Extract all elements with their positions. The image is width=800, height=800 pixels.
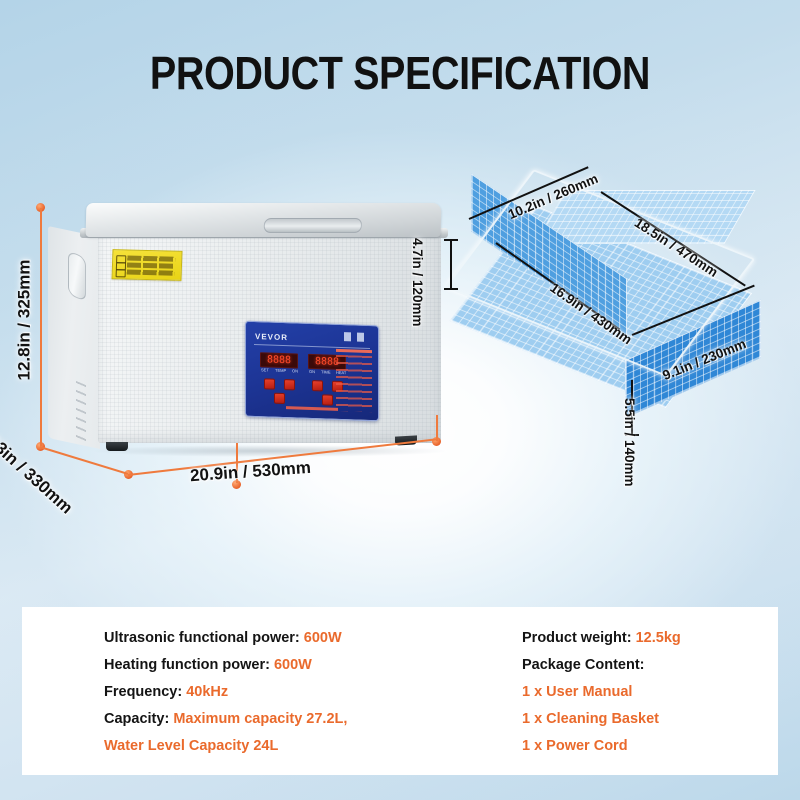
display-label-on-2: ON: [309, 369, 315, 374]
control-panel[interactable]: VEVOR 8888 8888 SET TEMP ON ON TIME HEAT: [245, 321, 379, 422]
panel-notice-heading: [336, 349, 372, 353]
basket-inner-height-label: 5.5in / 140mm: [622, 398, 637, 487]
wash-symbols-icon: [344, 332, 370, 342]
basket-outer-height-label: 4.7in / 120mm: [410, 238, 425, 327]
spec-row: 1 x User Manual: [522, 679, 681, 706]
brand-logo: VEVOR: [255, 332, 288, 342]
machine-side-handle-icon: [68, 250, 86, 302]
spec-value: Maximum capacity 27.2L,: [173, 711, 347, 727]
spec-label: Ultrasonic functional power:: [104, 630, 300, 646]
display-label-on: ON: [292, 368, 298, 373]
spec-label: Heating function power:: [104, 657, 270, 673]
spec-value: 12.5kg: [636, 630, 681, 646]
spec-row: Heating function power: 600W: [104, 652, 347, 679]
spec-row: Water Level Capacity 24L: [104, 733, 347, 760]
basket-dim-cap-bottom: [444, 288, 458, 290]
power-button[interactable]: [322, 394, 333, 405]
ultrasonic-cleaner-illustration: VEVOR 8888 8888 SET TEMP ON ON TIME HEAT: [40, 195, 460, 495]
spec-value: 600W: [304, 630, 342, 646]
panel-divider: [254, 344, 370, 349]
spec-column-left: Ultrasonic functional power: 600W Heatin…: [104, 625, 347, 760]
dim-line-height: [40, 208, 42, 446]
specification-panel: Ultrasonic functional power: 600W Heatin…: [22, 607, 778, 775]
temperature-display: 8888: [260, 352, 298, 368]
panel-notice-text: [336, 355, 372, 412]
spec-label: Frequency:: [104, 684, 182, 700]
warning-sticker: [112, 249, 183, 281]
spec-label: Capacity:: [104, 711, 169, 727]
spec-column-right: Product weight: 12.5kg Package Content: …: [522, 625, 681, 760]
time-up-button[interactable]: [312, 380, 323, 391]
panel-model-text: [286, 406, 338, 411]
spec-row: Capacity: Maximum capacity 27.2L,: [104, 706, 347, 733]
machine-lid-handle-icon: [263, 218, 362, 233]
machine-lid: [86, 203, 442, 237]
spec-value: 600W: [274, 657, 312, 673]
machine-foot-front-left: [106, 442, 128, 451]
spec-row: 1 x Power Cord: [522, 733, 681, 760]
dim-tick-bottom-right: [436, 415, 438, 441]
machine-height-label: 12.8in / 325mm: [14, 260, 34, 381]
page-title: PRODUCT SPECIFICATION: [56, 46, 744, 100]
spec-row: Frequency: 40kHz: [104, 679, 347, 706]
machine-left-side: [48, 226, 100, 449]
spec-row: Product weight: 12.5kg: [522, 625, 681, 652]
spec-row: Ultrasonic functional power: 600W: [104, 625, 347, 652]
basket-dim-line-outer-height: [450, 240, 452, 290]
temp-down-button[interactable]: [284, 379, 295, 390]
machine-vent-slots: [76, 381, 86, 445]
display-label-set: SET: [261, 367, 269, 372]
spec-row: 1 x Cleaning Basket: [522, 706, 681, 733]
spec-value: 40kHz: [186, 684, 228, 700]
machine-shadow: [95, 445, 445, 457]
display-label-time: TIME: [321, 369, 331, 374]
basket-dim-cap-top: [444, 239, 458, 241]
spec-label: Product weight:: [522, 630, 632, 646]
spec-row: Package Content:: [522, 652, 681, 679]
product-specification-page: PRODUCT SPECIFICATION VEVOR 8888 8888 SE…: [0, 0, 800, 800]
display-label-temp: TEMP: [275, 368, 286, 373]
heat-start-button[interactable]: [274, 393, 285, 404]
temp-up-button[interactable]: [264, 378, 275, 389]
